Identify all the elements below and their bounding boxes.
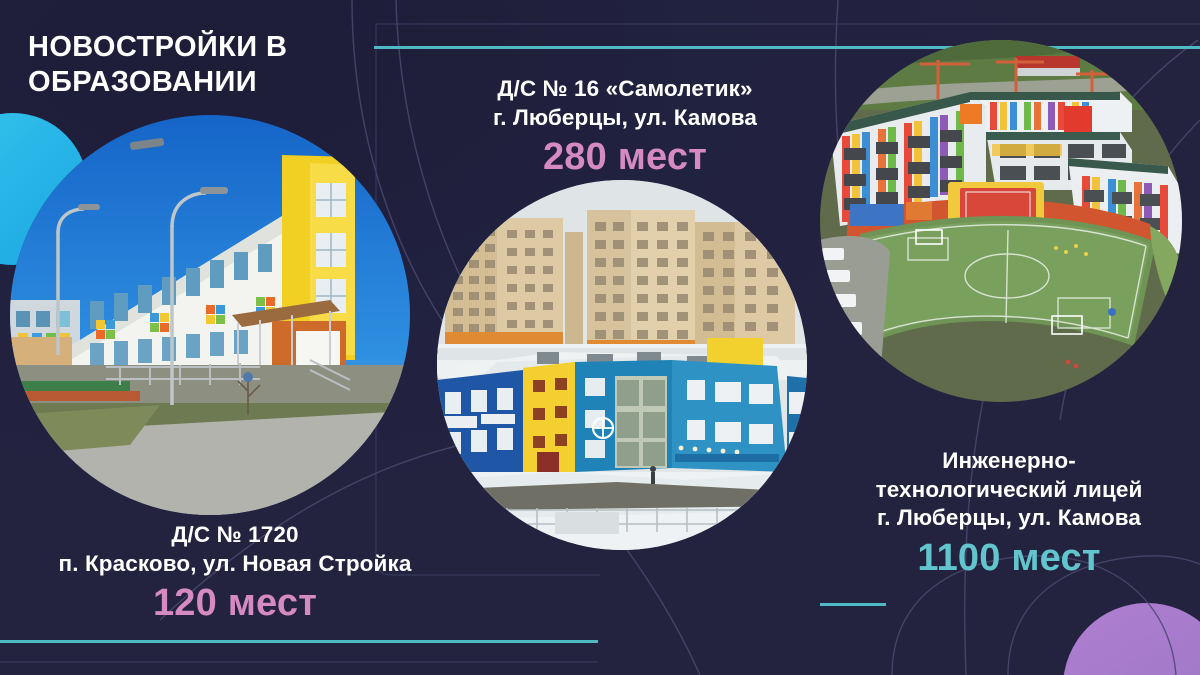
- caption-mid-name: Д/С № 16 «Самолетик»: [405, 75, 845, 104]
- caption-detskiy-sad-16: Д/С № 16 «Самолетик» г. Люберцы, ул. Кам…: [405, 75, 845, 182]
- caption-right-capacity: 1100 мест: [818, 535, 1200, 583]
- caption-right-name-line1: Инженерно-: [818, 447, 1200, 476]
- caption-right-address: г. Люберцы, ул. Камова: [818, 504, 1200, 533]
- purple-circle-decoration: [1063, 603, 1200, 675]
- caption-detskiy-sad-1720: Д/С № 1720 п. Красково, ул. Новая Стройк…: [0, 521, 470, 628]
- photo-licey: [820, 40, 1182, 402]
- presentation-slide: НОВОСТРОЙКИ В ОБРАЗОВАНИИ Д/С № 16 «Само…: [0, 0, 1200, 675]
- caption-left-capacity: 120 мест: [0, 580, 470, 628]
- teal-rule-top: [374, 46, 1200, 49]
- photo-detskiy-sad-1720: [10, 115, 410, 515]
- caption-left-name: Д/С № 1720: [0, 521, 470, 550]
- teal-rule-bottom-right: [820, 603, 886, 606]
- caption-right-name-line2: технологический лицей: [818, 476, 1200, 505]
- teal-rule-bottom-left: [0, 640, 598, 643]
- slide-title: НОВОСТРОЙКИ В ОБРАЗОВАНИИ: [28, 30, 368, 101]
- photo-detskiy-sad-16: [437, 180, 807, 550]
- caption-left-address: п. Красково, ул. Новая Стройка: [0, 550, 470, 579]
- caption-mid-address: г. Люберцы, ул. Камова: [405, 104, 845, 133]
- caption-licey: Инженерно- технологический лицей г. Любе…: [818, 447, 1200, 582]
- caption-mid-capacity: 280 мест: [405, 134, 845, 182]
